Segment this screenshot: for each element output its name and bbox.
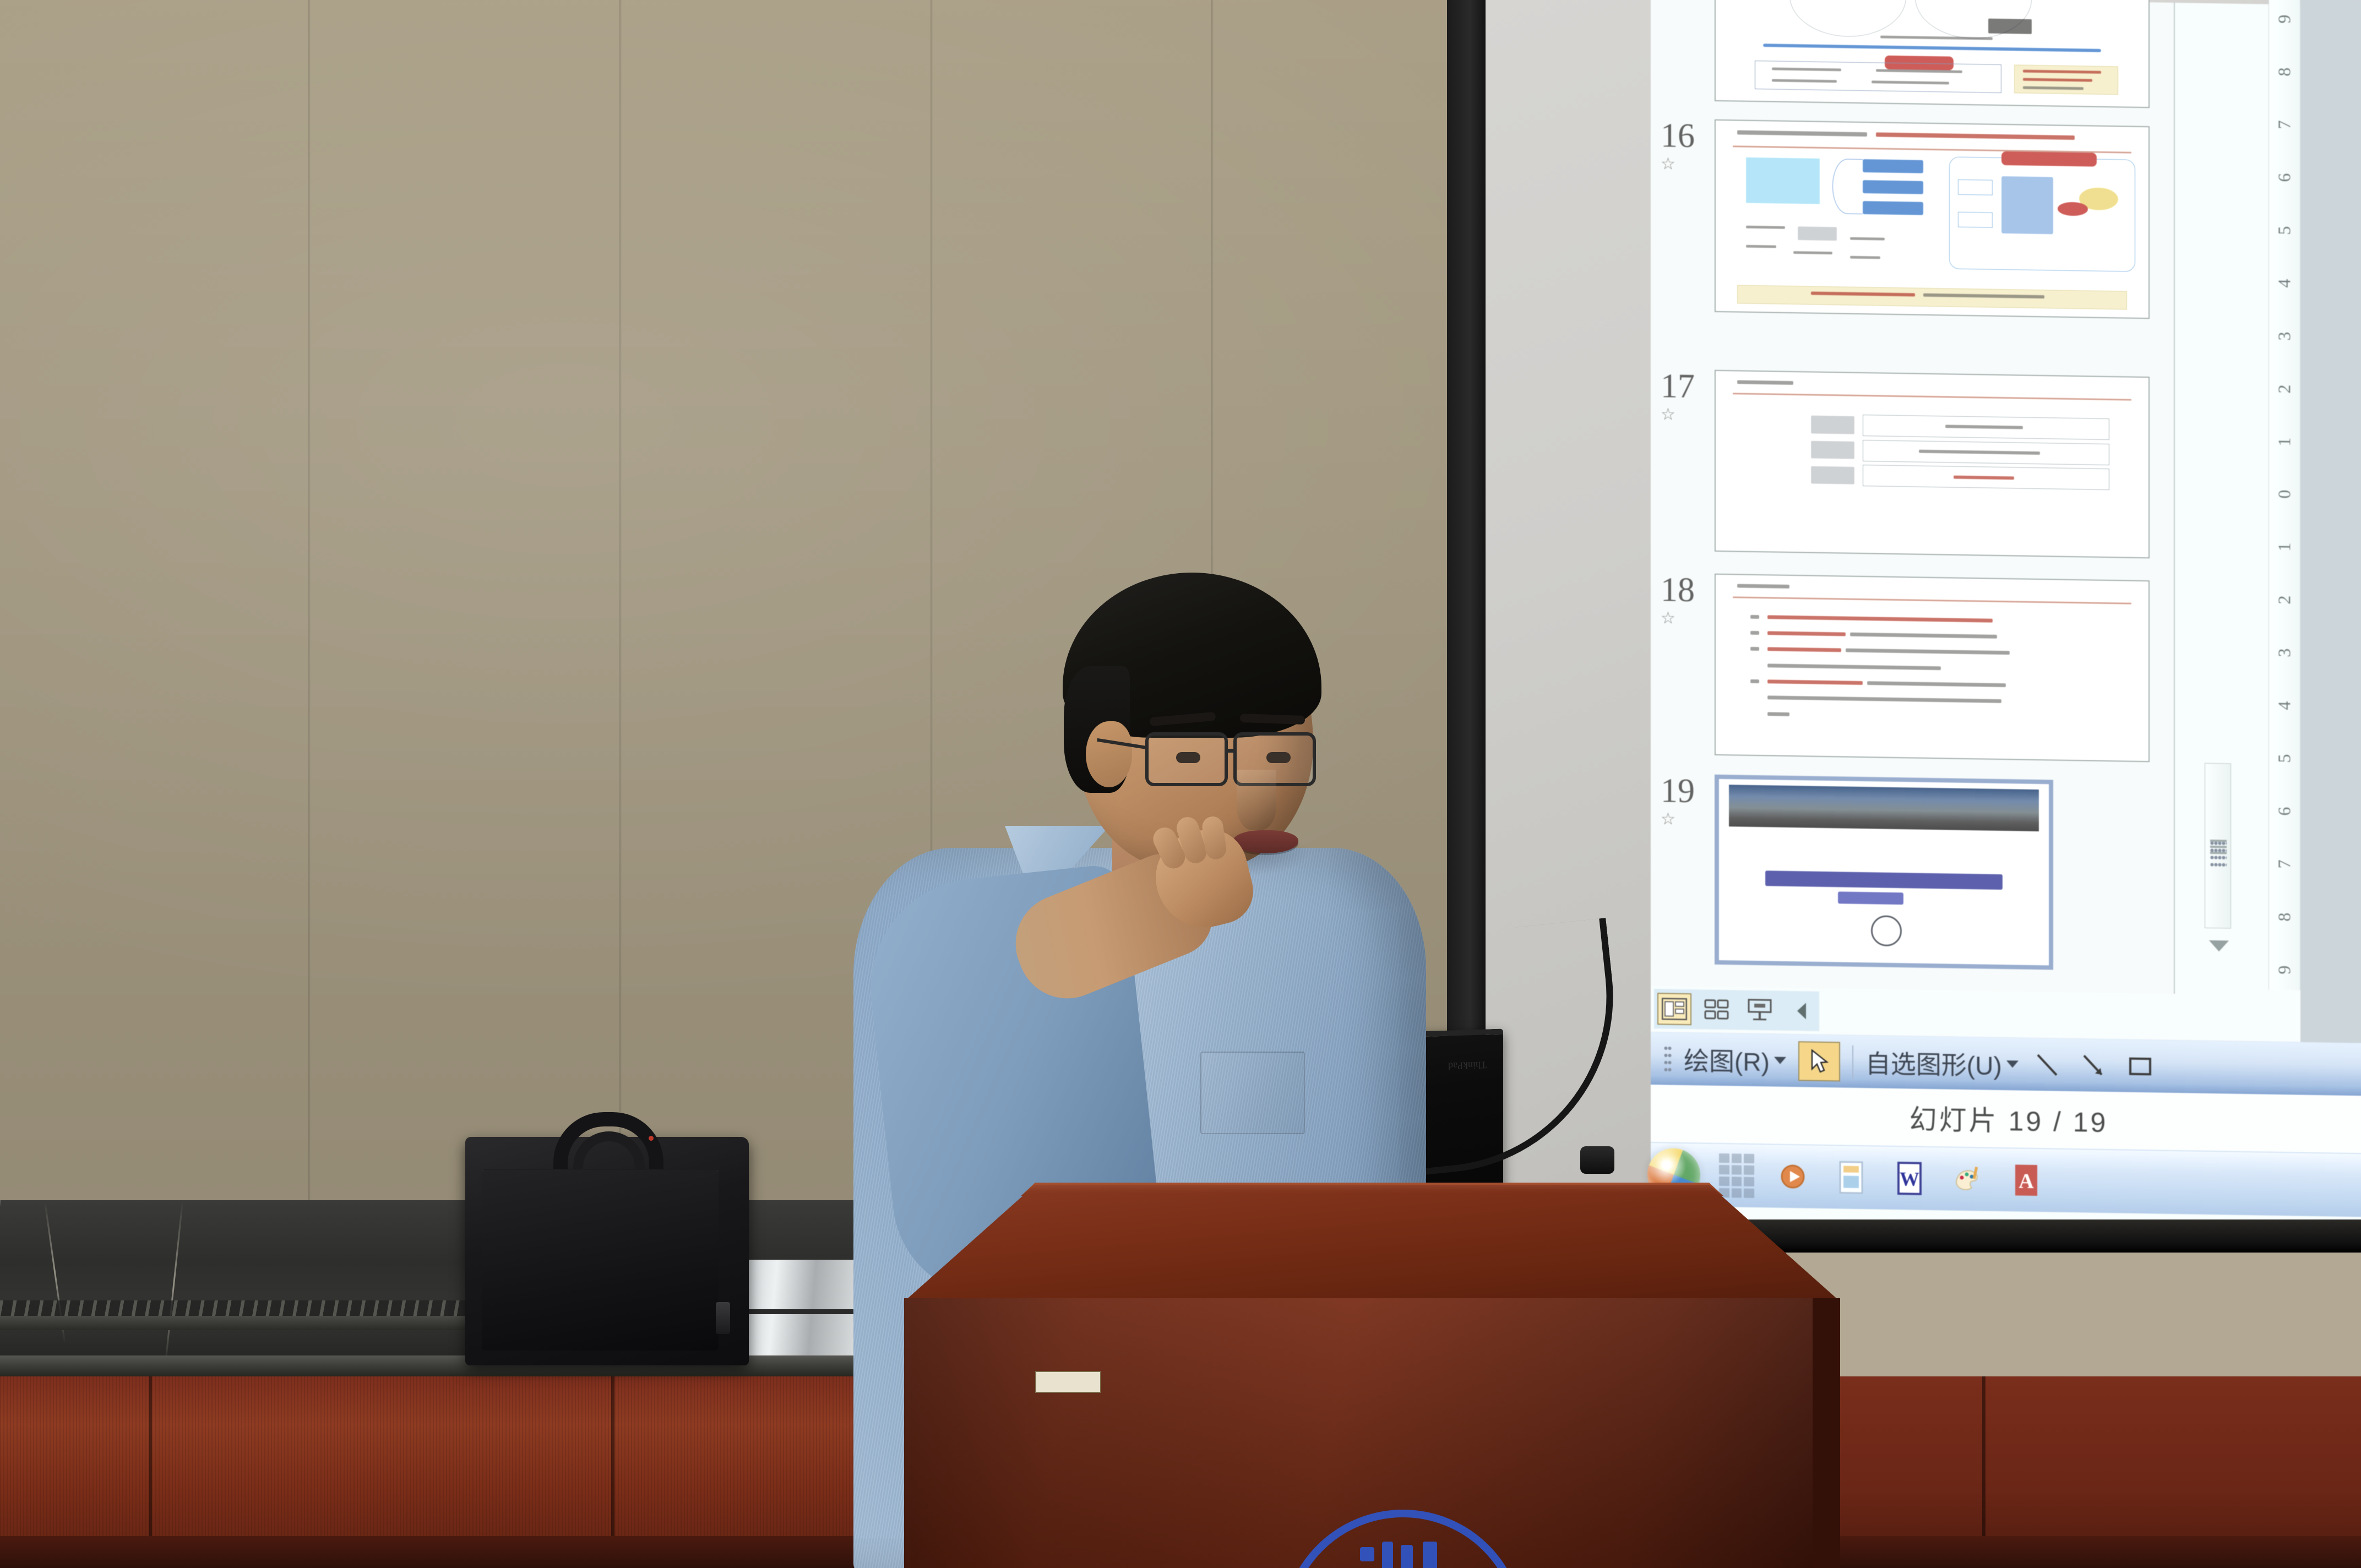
slides-thumbnail-pane[interactable]: 15 ☆ (1651, 0, 2175, 994)
vertical-scrollbar[interactable] (2201, 763, 2234, 995)
eyeglasses-left-lens (1145, 732, 1228, 786)
collapse-pane-button[interactable] (1786, 995, 1819, 1027)
ruler-tick: 5 (2275, 754, 2295, 763)
chevron-down-icon (1774, 1057, 1786, 1064)
arrow-tool-icon[interactable] (2077, 1048, 2111, 1083)
view-buttons-strip[interactable] (1654, 989, 1819, 1031)
ruler-tick: 7 (2275, 120, 2295, 129)
ruler-tick: 3 (2275, 649, 2295, 658)
slide-star-icon: ☆ (1661, 810, 1715, 830)
slide-thumbnail-row[interactable]: 15 ☆ (1651, 0, 2168, 108)
slide-thumbnail[interactable] (1715, 574, 2150, 762)
slide-title-text (1765, 870, 2003, 890)
slide-thumbnail-row[interactable]: 17 ☆ (1651, 369, 2168, 559)
slide-thumbnail[interactable] (1715, 119, 2150, 319)
slide-star-icon: ☆ (1661, 609, 1715, 629)
ruler-tick: 4 (2275, 701, 2295, 710)
ruler-tick: 5 (2275, 226, 2295, 235)
scrollbar-thumb[interactable] (2205, 763, 2231, 929)
ruler-tick: 3 (2275, 331, 2295, 341)
slide-number: 18 ☆ (1651, 573, 1715, 629)
nose (1237, 770, 1276, 830)
ruler-tick: 6 (2275, 173, 2295, 182)
eyeglasses-bridge (1227, 749, 1236, 753)
editing-pane-background (2300, 0, 2361, 1091)
ruler-tick: 2 (2275, 596, 2295, 605)
slide-number: 19 ☆ (1651, 774, 1715, 830)
briefcase-front-pocket (482, 1169, 719, 1351)
slide-number: 17 ☆ (1651, 369, 1715, 425)
ruler-tick: 7 (2275, 859, 2295, 869)
show-desktop-icon[interactable] (1719, 1153, 1754, 1198)
slide-thumbnail-row[interactable]: 18 ☆ (1651, 573, 2168, 763)
draw-menu-label: 绘图(R) (1684, 1041, 1770, 1078)
microphone-base (1580, 1146, 1614, 1174)
toolbar-separator (1852, 1045, 1853, 1078)
projection-screen: 15 ☆ (1486, 0, 2361, 1219)
slide-star-icon: ☆ (1661, 155, 1715, 175)
ruler-tick: 9 (2275, 965, 2295, 974)
line-tool-icon[interactable] (2031, 1047, 2065, 1082)
normal-view-button[interactable] (1657, 993, 1691, 1025)
ear (1086, 721, 1132, 787)
document-icon[interactable] (1831, 1154, 1871, 1201)
presentation-photo-scene: 15 ☆ (0, 0, 2361, 1568)
podium-nameplate (1035, 1371, 1101, 1393)
svg-text:W: W (1900, 1168, 1919, 1190)
ruler-tick: 2 (2275, 384, 2295, 394)
slide-thumbnail-row[interactable]: 19 ☆ (1651, 774, 2168, 972)
scrollbar-grip-icon (2210, 840, 2227, 868)
draw-menu-button[interactable]: 绘图(R) (1684, 1041, 1786, 1079)
autoshapes-menu-button[interactable]: 自选图形(U) (1865, 1044, 2019, 1082)
scroll-down-arrow-icon[interactable] (2209, 940, 2229, 952)
ruler-tick: 8 (2275, 67, 2295, 77)
slide-thumbnail[interactable] (1715, 0, 2150, 108)
podium-right-edge (1813, 1298, 1840, 1568)
shirt-pocket (1200, 1052, 1305, 1134)
svg-text:A: A (2019, 1170, 2034, 1193)
slide-banner-photo (1729, 785, 2039, 831)
podium-desktop (904, 1185, 1840, 1302)
slide-counter-label: 幻灯片 19 / 19 (1910, 1097, 2108, 1140)
ruler-tick: 1 (2275, 437, 2295, 447)
slide-number: 16 ☆ (1651, 118, 1715, 175)
slide-show-view-button[interactable] (1743, 994, 1776, 1027)
ruler-tick: 0 (2275, 490, 2295, 499)
status-bar: 幻灯片 19 / 19 (1651, 1085, 2361, 1153)
media-player-icon[interactable] (1773, 1153, 1813, 1200)
metal-plate-seam (741, 1309, 853, 1314)
ruler-tick: 1 (2275, 543, 2295, 552)
slide-star-icon: ☆ (1661, 405, 1715, 425)
powerpoint-window[interactable]: 15 ☆ (1651, 0, 2361, 1219)
laptop-briefcase (465, 1137, 749, 1365)
ruler-tick: 9 (2275, 14, 2295, 24)
slide-thumbnail[interactable] (1715, 370, 2150, 558)
autoshapes-menu-label: 自选图形(U) (1865, 1044, 2002, 1082)
rectangle-tool-icon[interactable] (2123, 1049, 2157, 1084)
slide-sorter-view-button[interactable] (1700, 993, 1734, 1026)
briefcase-red-dot (649, 1136, 654, 1141)
briefcase-zipper (716, 1302, 730, 1334)
ruler-tick: 6 (2275, 807, 2295, 816)
microsoft-word-icon[interactable]: W (1890, 1155, 1929, 1202)
slide-thumbnail-row[interactable]: 16 ☆ (1651, 118, 2168, 319)
slide-logo-icon (1871, 916, 1902, 947)
toolbar-grip-icon[interactable] (1664, 1044, 1672, 1073)
windows-taskbar[interactable]: W A (1651, 1142, 2361, 1217)
paint-icon[interactable] (1948, 1156, 1988, 1202)
ruler-tick: 8 (2275, 912, 2295, 922)
chevron-down-icon (2006, 1060, 2019, 1068)
slide-subtitle-text (1838, 891, 1904, 905)
ruler-tick: 4 (2275, 279, 2295, 288)
vertical-ruler: 9 8 7 6 5 4 3 2 1 0 1 2 3 4 5 6 7 8 9 (2268, 0, 2300, 990)
metal-plate (741, 1260, 853, 1370)
slide-thumbnail-selected[interactable] (1715, 775, 2053, 970)
podium-emblem-glyphs (1360, 1542, 1454, 1568)
adobe-acrobat-icon[interactable]: A (2006, 1157, 2046, 1204)
select-arrow-tool-button[interactable] (1798, 1041, 1840, 1081)
